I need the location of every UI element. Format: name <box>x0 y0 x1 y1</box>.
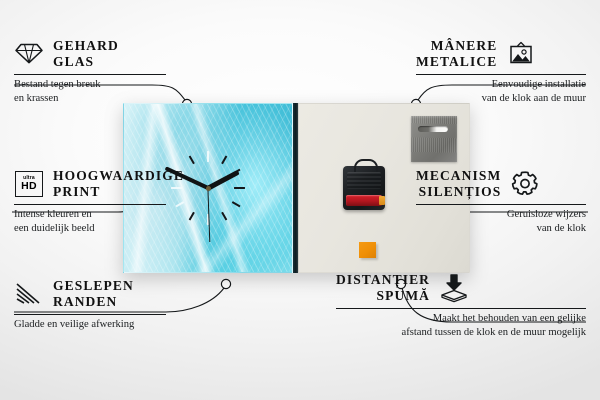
beveled-edge-icon <box>14 280 44 308</box>
feature-title-line2: SILENȚIOS <box>419 184 502 199</box>
gear-icon <box>510 170 540 198</box>
clock-mechanism <box>343 166 385 210</box>
feature-desc-line1: Geruisloze wijzers <box>507 209 586 220</box>
mechanism-hanging-loop <box>354 159 378 172</box>
feature-desc-line1: Maakt het behouden van een gelijke <box>433 313 586 324</box>
feature-desc-line2: van de klok <box>537 223 586 234</box>
ultra-hd-icon-main: HD <box>21 181 37 192</box>
divider <box>14 204 166 205</box>
feature-title-line1: DISTANȚIER <box>336 272 430 287</box>
feature-desc-line2: een duidelijk beeld <box>14 223 95 234</box>
feature-title-line1: HOOGWAARDIGE <box>53 168 184 183</box>
divider <box>336 308 586 309</box>
feature-title-line1: GEHARD <box>53 38 119 53</box>
divider <box>14 74 166 75</box>
infographic-canvas: GEHARD GLAS Bestand tegen breuk en krass… <box>0 0 600 400</box>
ultra-hd-icon: ultra HD <box>14 170 44 198</box>
feature-gehard-glas[interactable]: GEHARD GLAS Bestand tegen breuk en krass… <box>14 38 166 105</box>
clock-center-cap <box>206 186 211 191</box>
feature-geslepen-randen[interactable]: GESLEPEN RANDEN Gladde en veilige afwerk… <box>14 278 166 332</box>
feature-manere-metalice[interactable]: MÂNERE METALICE Eenvoudige installatie v… <box>416 38 586 105</box>
feature-title-line1: MECANISM <box>416 168 501 183</box>
feature-distantier-spuma[interactable]: DISTANȚIER SPUMĂ Maakt het behouden van … <box>336 272 586 339</box>
feature-desc-line2: van de klok aan de muur <box>482 93 586 104</box>
feature-desc-line2: en krassen <box>14 93 58 104</box>
feature-hoogwaardige-print[interactable]: ultra HD HOOGWAARDIGE PRINT Intense kleu… <box>14 168 166 235</box>
metal-hanger-icon <box>411 116 457 162</box>
foam-spacer <box>359 242 376 258</box>
spacer-arrow-icon <box>439 274 469 302</box>
divider <box>14 314 166 315</box>
diamond-icon <box>14 40 44 68</box>
feature-desc-line1: Intense kleuren en <box>14 209 92 220</box>
feature-desc-line2: afstand tussen de klok en de muur mogeli… <box>402 327 586 338</box>
divider <box>416 74 586 75</box>
battery-icon <box>346 195 382 206</box>
feature-title-line1: MÂNERE <box>431 38 498 53</box>
hanger-slot <box>418 126 448 132</box>
feature-desc-line1: Bestand tegen breuk <box>14 79 101 90</box>
feature-title-line2: SPUMĂ <box>377 288 431 303</box>
feature-mecanism-silentios[interactable]: MECANISM SILENȚIOS Geruisloze wijzers va… <box>416 168 586 235</box>
feature-desc-line1: Gladde en veilige afwerking <box>14 319 134 330</box>
feature-title-line2: GLAS <box>53 54 94 69</box>
feature-title-line2: METALICE <box>416 54 497 69</box>
feature-title-line2: PRINT <box>53 184 101 199</box>
feature-desc-line1: Eenvoudige installatie <box>492 79 586 90</box>
feature-title-line1: GESLEPEN <box>53 278 134 293</box>
picture-hanger-icon <box>506 40 536 68</box>
divider <box>416 204 586 205</box>
mechanism-detail <box>347 172 381 189</box>
feature-title-line2: RANDEN <box>53 294 117 309</box>
